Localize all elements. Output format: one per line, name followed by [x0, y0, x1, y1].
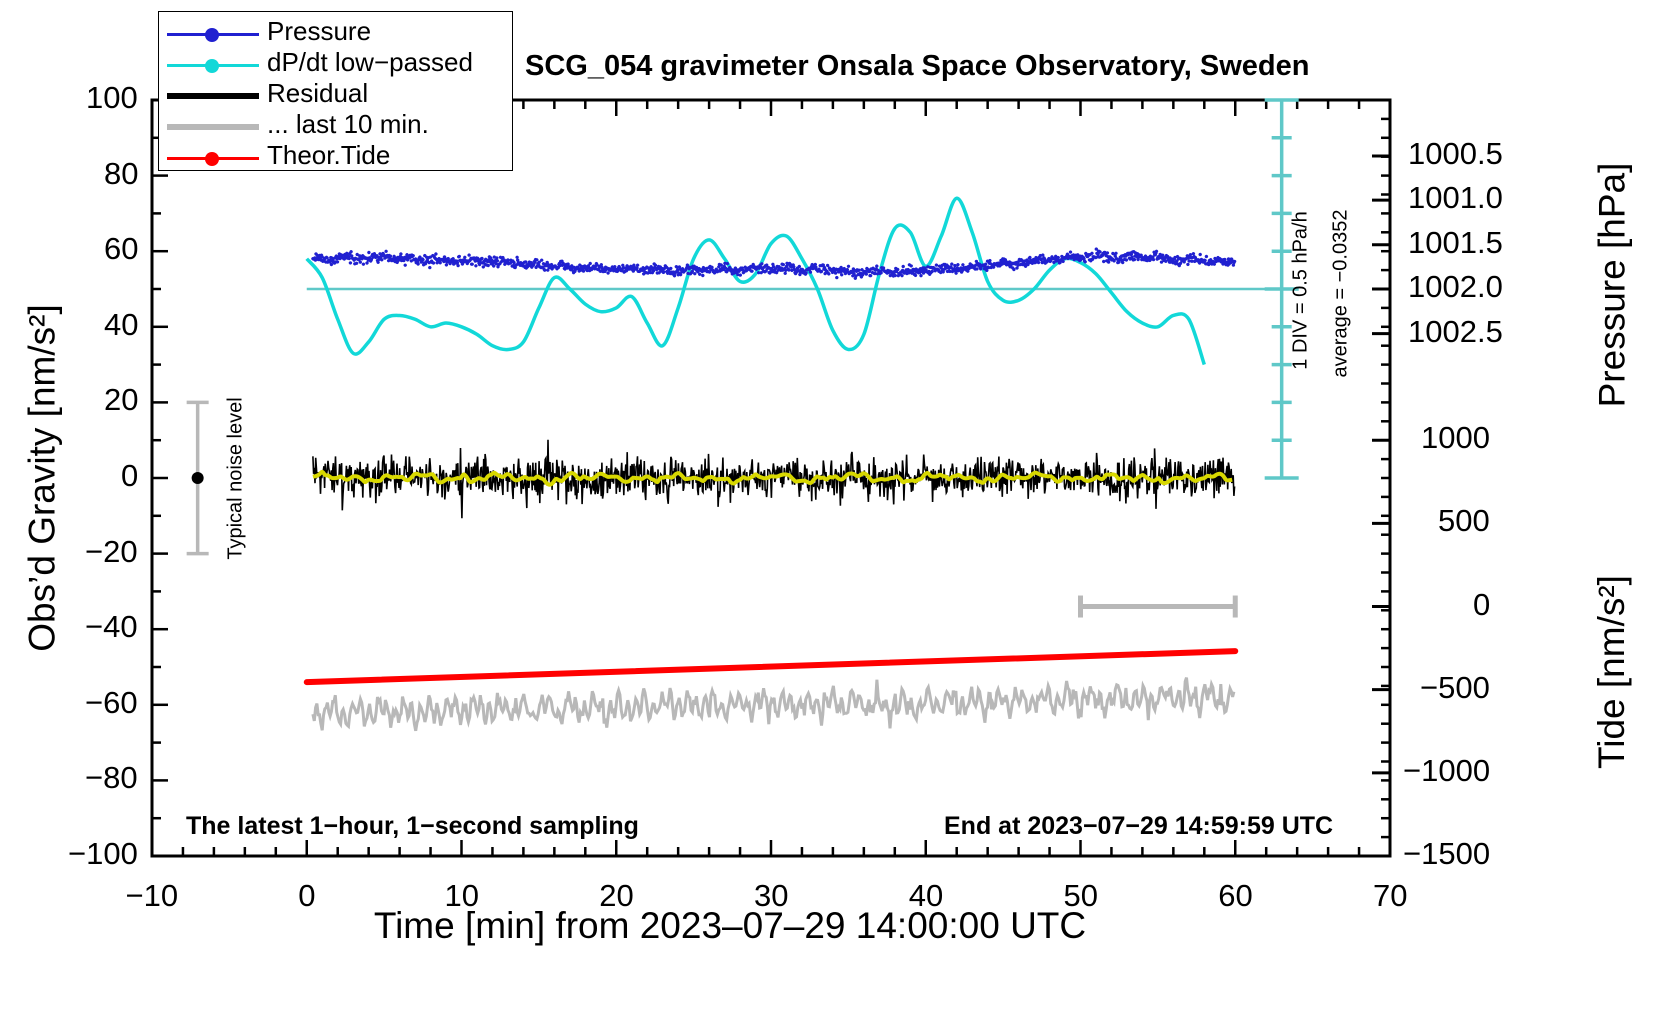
axis-tick-label: 20 [599, 878, 633, 914]
bottom-axis-ticks [152, 840, 1390, 856]
axis-tick-label: 0 [298, 878, 315, 914]
axis-tick-label: 80 [104, 156, 138, 192]
legend-line-swatch [167, 93, 259, 99]
axis-tick-label: 1000 [1421, 420, 1490, 456]
axis-tick-label: 1002.0 [1408, 269, 1503, 305]
right-axis-ticks [1372, 100, 1390, 856]
axis-tick-label: 10 [445, 878, 479, 914]
legend-item-last-10-min[interactable]: ... last 10 min. [159, 113, 512, 143]
y-axis-right-pressure-label: Pressure [hPa] [1591, 163, 1633, 408]
axis-tick-label: −1500 [1403, 836, 1490, 872]
axis-tick-label: −20 [85, 534, 138, 570]
typical-noise-level-label: Typical noise level [225, 397, 248, 559]
axis-tick-label: −80 [85, 760, 138, 796]
y-axis-right-tide-label: Tide [nm/s²] [1591, 575, 1633, 769]
axis-tick-label: 0 [121, 458, 138, 494]
axis-tick-label: 40 [104, 307, 138, 343]
axis-tick-label: 20 [104, 382, 138, 418]
legend-item-label: dP/dt low−passed [267, 47, 473, 78]
theoretical-tide-series [307, 651, 1236, 682]
legend-item-dp-dt-low-passed[interactable]: dP/dt low−passed [159, 51, 512, 81]
dpdt-average-label: average = −0.0352 [1329, 209, 1352, 377]
axis-tick-label: 1001.0 [1408, 180, 1503, 216]
axis-tick-label: −60 [85, 685, 138, 721]
dpdt-series [307, 198, 1205, 364]
page-title: SCG_054 gravimeter Onsala Space Observat… [525, 50, 1309, 83]
footer-right-note: End at 2023−07−29 14:59:59 UTC [944, 812, 1333, 841]
legend-item-label: Theor.Tide [267, 140, 390, 171]
axis-tick-label: 50 [1064, 878, 1098, 914]
axis-tick-label: −100 [68, 836, 138, 872]
legend-dot-marker [205, 28, 219, 42]
axis-tick-label: 1000.5 [1408, 136, 1503, 172]
axis-tick-label: −500 [1420, 670, 1490, 706]
last-10-min-series [313, 678, 1234, 731]
gravimeter-plot-page: SCG_054 gravimeter Onsala Space Observat… [0, 0, 1660, 1020]
axis-tick-label: −1000 [1403, 753, 1490, 789]
legend-dot-marker [205, 152, 219, 166]
legend-item-pressure[interactable]: Pressure [159, 20, 512, 50]
y-axis-left-label: Obs’d Gravity [nm/s²] [21, 304, 63, 651]
last-10-min-bracket [1081, 596, 1236, 618]
axis-tick-label: 60 [1218, 878, 1252, 914]
axis-tick-label: 100 [86, 80, 138, 116]
legend-item-theor-tide[interactable]: Theor.Tide [159, 144, 512, 174]
legend-item-label: ... last 10 min. [267, 109, 429, 140]
footer-left-note: The latest 1−hour, 1−second sampling [186, 812, 639, 841]
axis-tick-label: 70 [1373, 878, 1407, 914]
axis-tick-label: −10 [126, 878, 179, 914]
left-axis-ticks [152, 100, 168, 856]
axis-tick-label: −40 [85, 609, 138, 645]
legend-item-label: Pressure [267, 16, 371, 47]
legend-item-residual[interactable]: Residual [159, 82, 512, 112]
axis-tick-label: 0 [1473, 587, 1490, 623]
axis-tick-label: 30 [754, 878, 788, 914]
dpdt-div-label: 1 DIV = 0.5 hPa/h [1290, 211, 1313, 369]
typical-noise-level-errorbar [187, 402, 209, 553]
axis-tick-label: 500 [1438, 503, 1490, 539]
legend[interactable]: PressuredP/dt low−passedResidual... last… [158, 11, 513, 171]
legend-dot-marker [205, 59, 219, 73]
legend-line-swatch [167, 124, 259, 130]
axis-tick-label: 40 [909, 878, 943, 914]
axis-tick-label: 1001.5 [1408, 225, 1503, 261]
axis-tick-label: 1002.5 [1408, 314, 1503, 350]
axis-tick-label: 60 [104, 231, 138, 267]
legend-item-label: Residual [267, 78, 368, 109]
